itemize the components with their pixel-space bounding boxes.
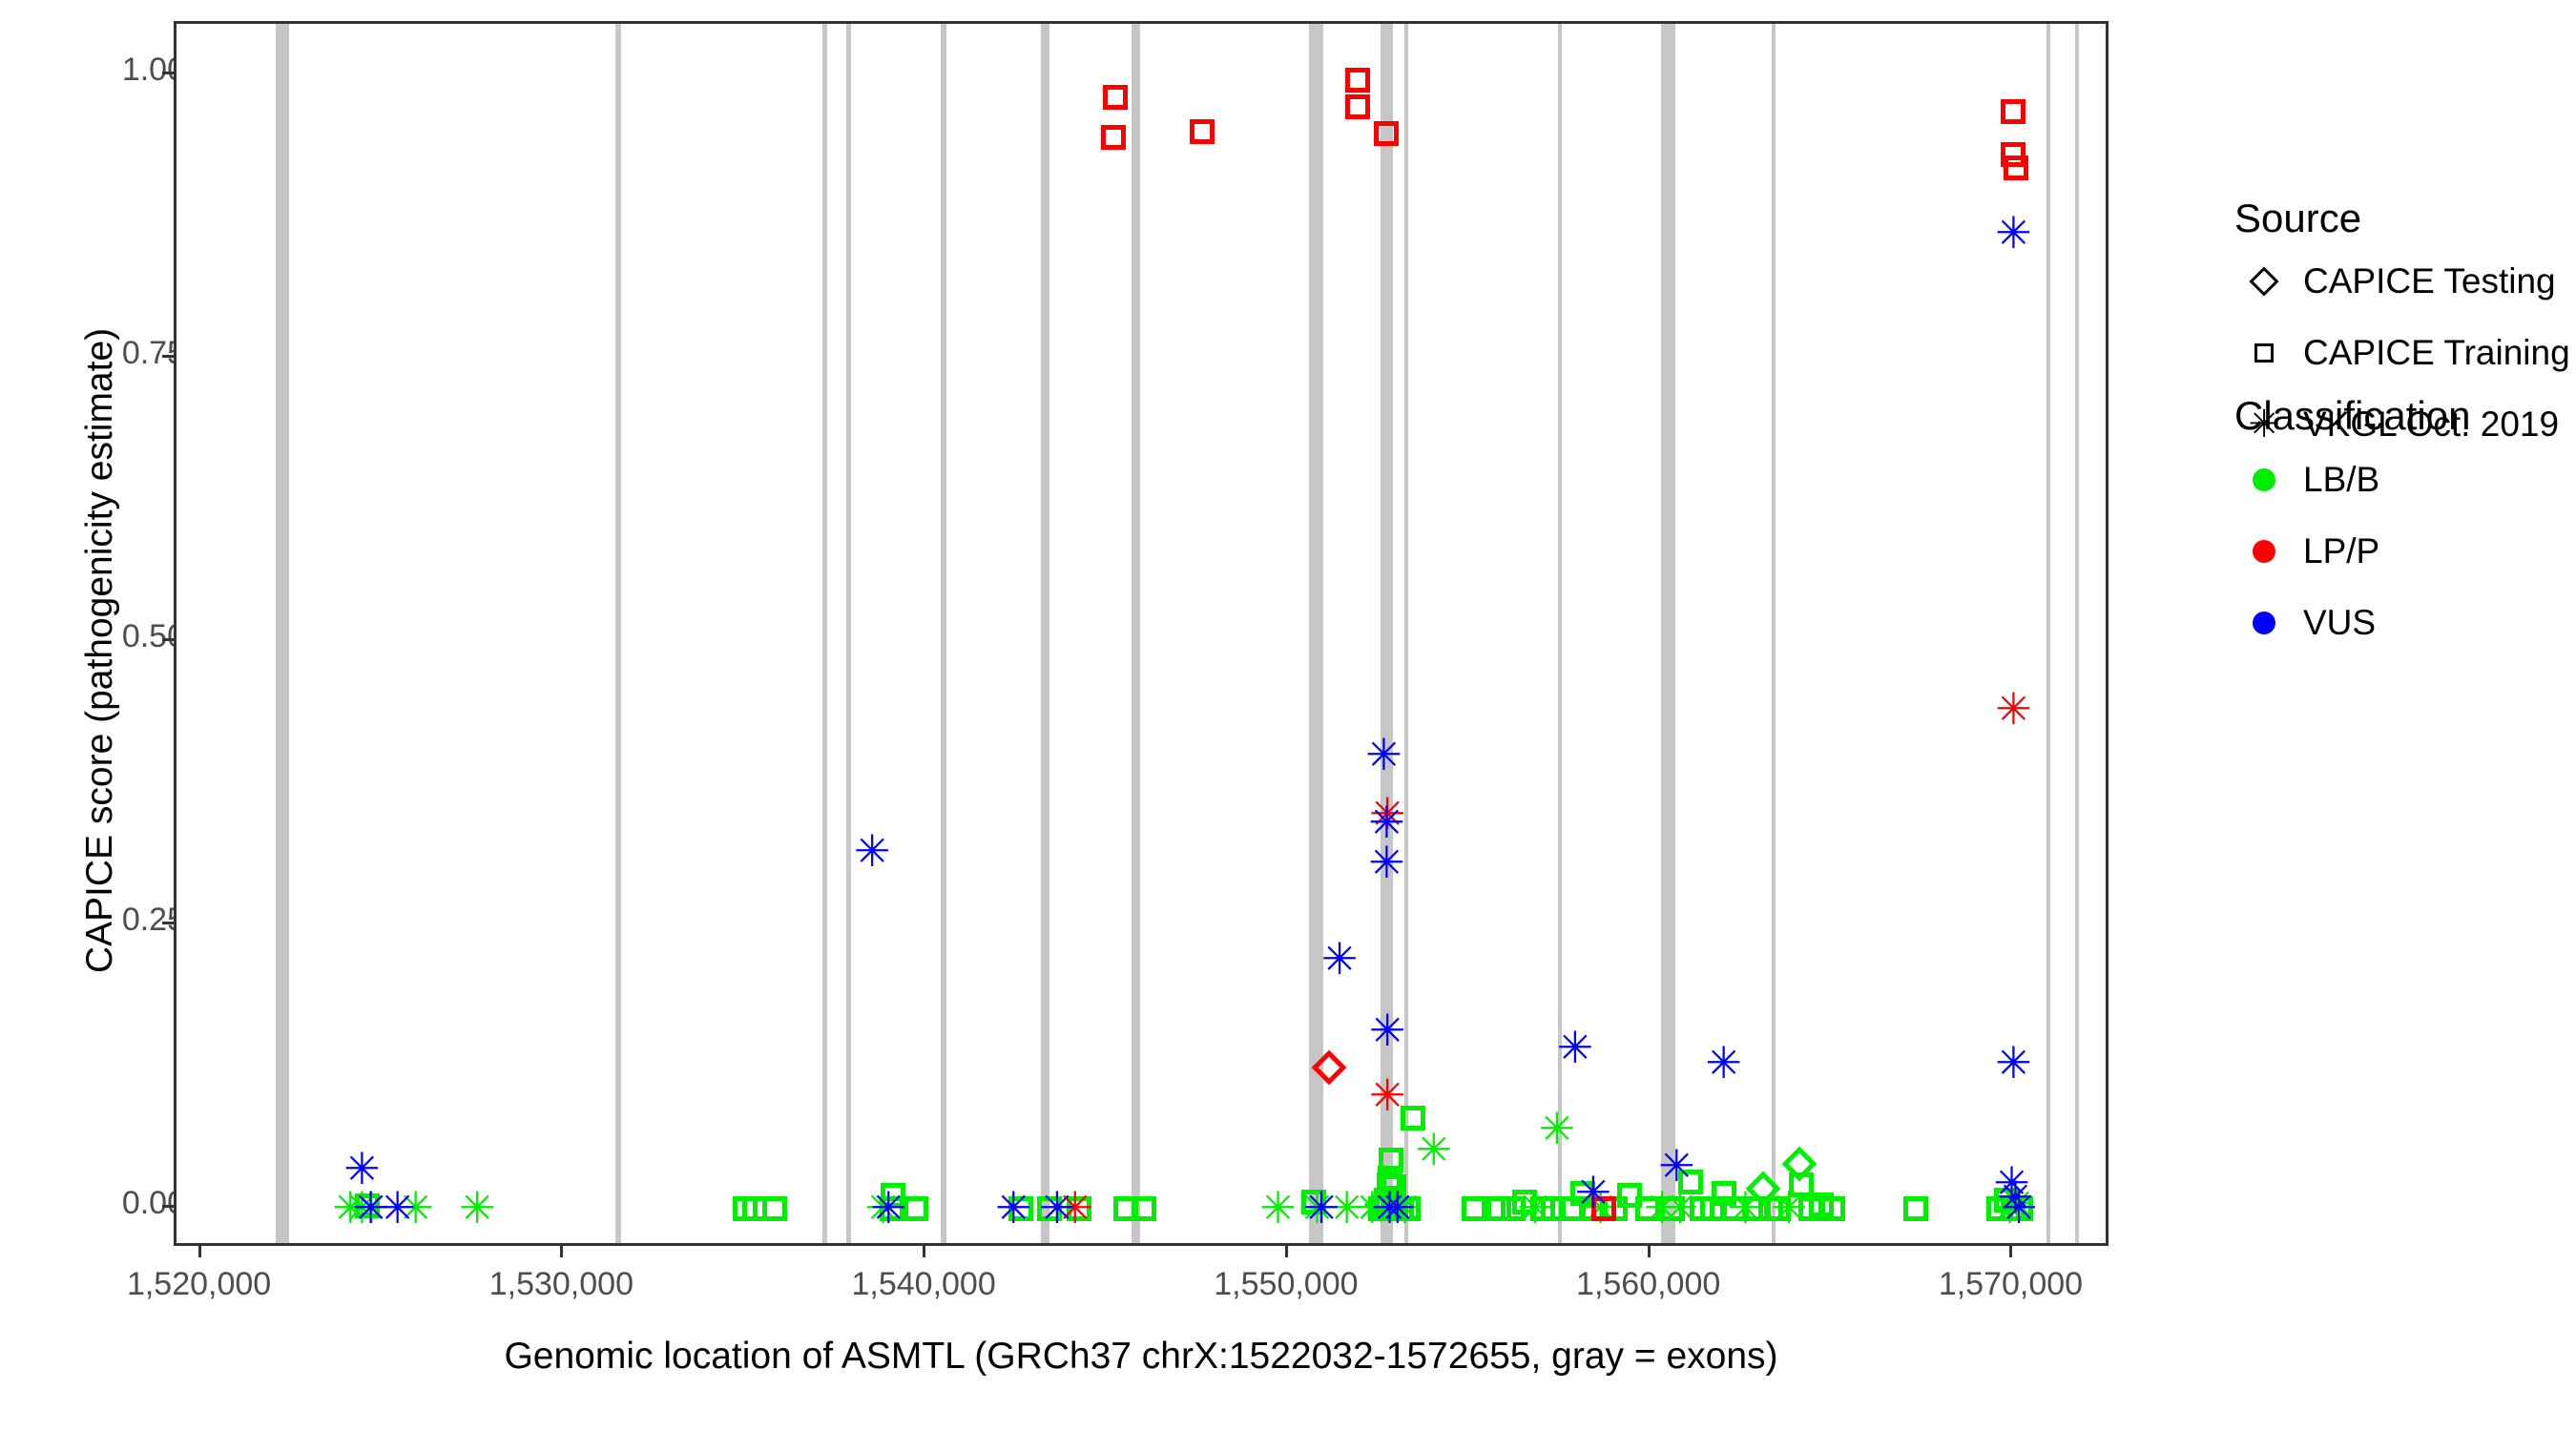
y-tick-label: 0.00 xyxy=(32,1185,185,1222)
data-point-square xyxy=(1101,125,1126,150)
y-tick-mark xyxy=(162,1205,174,1208)
circle-icon xyxy=(2253,540,2275,563)
x-tick-mark xyxy=(1648,1246,1651,1257)
x-tick-mark xyxy=(923,1246,925,1257)
data-point-asterisk: ✳ xyxy=(1995,220,2032,247)
y-tick-mark xyxy=(162,922,174,924)
legend: Source CAPICE TestingCAPICE Training✳VKG… xyxy=(2204,0,2576,1431)
data-point-asterisk: ✳ xyxy=(459,1196,496,1223)
x-tick-label: 1,570,000 xyxy=(1886,1266,2134,1303)
data-point-square xyxy=(1379,1148,1403,1172)
data-point-square xyxy=(1820,1196,1845,1221)
exon-band xyxy=(615,24,620,1243)
legend-source-title: Source xyxy=(2234,196,2361,241)
y-tick-mark xyxy=(162,638,174,641)
data-point-square xyxy=(1903,1196,1928,1221)
data-point-asterisk: ✳ xyxy=(1368,850,1405,877)
legend-item-label: LP/P xyxy=(2303,528,2379,575)
exon-band xyxy=(276,24,290,1243)
data-point-asterisk: ✳ xyxy=(1705,1050,1742,1077)
legend-item-label: VUS xyxy=(2303,599,2376,647)
x-tick-mark xyxy=(1285,1246,1288,1257)
data-point-asterisk: ✳ xyxy=(379,1196,416,1223)
legend-item-label: CAPICE Training xyxy=(2303,329,2570,377)
y-tick-label: 0.75 xyxy=(32,335,185,372)
exon-band xyxy=(1661,24,1675,1243)
exon-band xyxy=(822,24,827,1243)
x-tick-label: 1,550,000 xyxy=(1162,1266,1410,1303)
data-point-square xyxy=(2004,156,2028,180)
chart-root: CAPICE score (pathogenicity estimate) Ge… xyxy=(0,0,2576,1431)
y-tick-mark xyxy=(162,355,174,358)
x-tick-label: 1,530,000 xyxy=(437,1266,685,1303)
diamond-icon xyxy=(2249,266,2278,296)
data-point-square xyxy=(2001,99,2025,124)
data-point-asterisk: ✳ xyxy=(1039,1196,1076,1223)
data-point-asterisk: ✳ xyxy=(2001,1196,2038,1223)
exon-band xyxy=(1772,24,1776,1243)
y-tick-mark xyxy=(162,72,174,74)
data-point-asterisk: ✳ xyxy=(1365,742,1402,769)
circle-icon xyxy=(2253,468,2275,491)
data-point-square xyxy=(1345,68,1370,93)
circle-icon xyxy=(2253,612,2275,634)
exon-band xyxy=(2046,24,2050,1243)
exon-band xyxy=(941,24,945,1243)
data-point-asterisk: ✳ xyxy=(854,839,891,865)
data-point-square xyxy=(1132,1196,1156,1221)
data-point-asterisk: ✳ xyxy=(1380,1196,1417,1223)
data-point-asterisk: ✳ xyxy=(1995,696,2032,723)
data-point-asterisk: ✳ xyxy=(1368,810,1405,837)
exon-band xyxy=(1041,24,1049,1243)
square-icon xyxy=(2254,343,2274,363)
data-point-asterisk: ✳ xyxy=(1321,946,1359,973)
data-point-asterisk: ✳ xyxy=(1658,1154,1695,1181)
data-point-square xyxy=(904,1196,928,1221)
data-point-asterisk: ✳ xyxy=(1303,1196,1340,1223)
legend-item-label: LB/B xyxy=(2303,456,2379,504)
legend-classification-title: Classification xyxy=(2234,393,2470,439)
exon-band xyxy=(2075,24,2079,1243)
x-tick-label: 1,520,000 xyxy=(75,1266,323,1303)
data-point-asterisk: ✳ xyxy=(1557,1035,1594,1062)
data-point-asterisk: ✳ xyxy=(1575,1180,1612,1207)
data-point-asterisk: ✳ xyxy=(1259,1196,1297,1223)
data-point-asterisk: ✳ xyxy=(1416,1137,1453,1164)
exon-band xyxy=(1404,24,1408,1243)
data-point-square xyxy=(1374,121,1399,146)
x-tick-mark xyxy=(198,1246,201,1257)
data-point-asterisk: ✳ xyxy=(995,1196,1032,1223)
y-tick-label: 0.25 xyxy=(32,902,185,939)
data-point-asterisk: ✳ xyxy=(1539,1116,1576,1143)
legend-key xyxy=(2238,454,2290,506)
x-tick-label: 1,560,000 xyxy=(1525,1266,1773,1303)
exon-band xyxy=(846,24,851,1243)
data-point-asterisk: ✳ xyxy=(343,1156,381,1183)
exon-band xyxy=(1381,24,1393,1243)
data-point-square xyxy=(1103,85,1128,110)
data-point-asterisk: ✳ xyxy=(870,1196,907,1223)
legend-key xyxy=(2238,526,2290,577)
x-axis-title: Genomic location of ASMTL (GRCh37 chrX:1… xyxy=(174,1336,2109,1378)
legend-key xyxy=(2238,597,2290,649)
data-point-asterisk: ✳ xyxy=(1995,1050,2032,1077)
legend-key xyxy=(2238,256,2290,307)
y-tick-label: 1.00 xyxy=(32,52,185,89)
data-point-square xyxy=(1190,119,1215,144)
x-tick-mark xyxy=(2009,1246,2012,1257)
y-tick-label: 0.50 xyxy=(32,618,185,655)
data-point-asterisk: ✳ xyxy=(1369,1083,1406,1110)
data-point-asterisk: ✳ xyxy=(1369,1018,1406,1045)
x-tick-label: 1,540,000 xyxy=(800,1266,1048,1303)
x-tick-mark xyxy=(560,1246,563,1257)
exon-band xyxy=(1132,24,1140,1243)
legend-key xyxy=(2238,327,2290,379)
plot-panel: ✳✳✳✳✳✳✳✳✳✳✳✳✳✳✳✳✳✳✳✳✳✳✳✳✳✳✳✳✳✳✳✳✳✳✳✳✳✳✳✳… xyxy=(174,21,2109,1246)
data-point-square xyxy=(1345,94,1370,119)
legend-item-label: CAPICE Testing xyxy=(2303,258,2556,305)
data-point-square xyxy=(762,1196,787,1221)
data-point-square xyxy=(1462,1196,1486,1221)
